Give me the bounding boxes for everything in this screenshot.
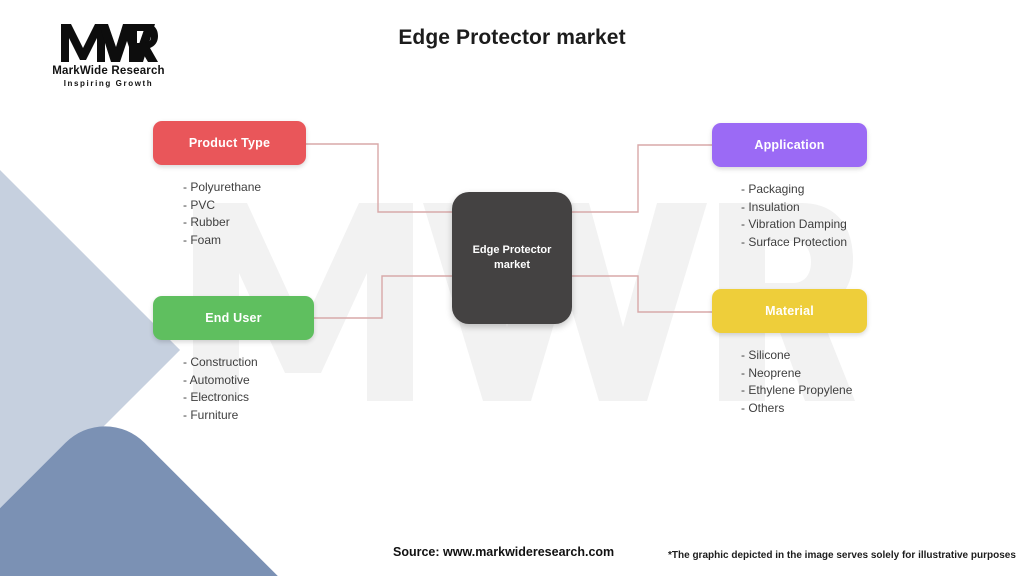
category-group-end-user[interactable]: End User - Construction - Automotive - E… — [153, 296, 314, 424]
list-item: - Silicone — [741, 347, 867, 365]
list-item: - Insulation — [741, 199, 867, 217]
list-item: - Packaging — [741, 181, 867, 199]
connector-material — [572, 276, 712, 312]
list-item: - Automotive — [183, 372, 314, 390]
category-group-application[interactable]: Application - Packaging - Insulation - V… — [712, 123, 867, 251]
center-node[interactable]: Edge Protector market — [452, 192, 572, 324]
category-items-end-user: - Construction - Automotive - Electronic… — [153, 354, 314, 424]
category-items-material: - Silicone - Neoprene - Ethylene Propyle… — [712, 347, 867, 417]
connector-end-user — [314, 276, 452, 318]
list-item: - Surface Protection — [741, 234, 867, 252]
category-box-product-type[interactable]: Product Type — [153, 121, 306, 165]
center-node-label: Edge Protector market — [465, 243, 560, 273]
category-title-end-user: End User — [205, 311, 261, 325]
list-item: - Neoprene — [741, 365, 867, 383]
category-title-product-type: Product Type — [189, 136, 270, 150]
list-item: - Vibration Damping — [741, 216, 867, 234]
list-item: - Ethylene Propylene — [741, 382, 867, 400]
category-items-application: - Packaging - Insulation - Vibration Dam… — [712, 181, 867, 251]
category-items-product-type: - Polyurethane - PVC - Rubber - Foam — [153, 179, 306, 249]
list-item: - Electronics — [183, 389, 314, 407]
category-group-material[interactable]: Material - Silicone - Neoprene - Ethylen… — [712, 289, 867, 417]
category-box-application[interactable]: Application — [712, 123, 867, 167]
category-title-application: Application — [754, 138, 824, 152]
list-item: - Construction — [183, 354, 314, 372]
connector-product-type — [306, 144, 452, 212]
list-item: - Rubber — [183, 214, 306, 232]
list-item: - Furniture — [183, 407, 314, 425]
category-box-end-user[interactable]: End User — [153, 296, 314, 340]
category-group-product-type[interactable]: Product Type - Polyurethane - PVC - Rubb… — [153, 121, 306, 249]
list-item: - Foam — [183, 232, 306, 250]
list-item: - PVC — [183, 197, 306, 215]
footer-disclaimer: *The graphic depicted in the image serve… — [668, 550, 1016, 561]
connector-application — [572, 145, 712, 212]
list-item: - Polyurethane — [183, 179, 306, 197]
footer-source: Source: www.markwideresearch.com — [393, 545, 614, 559]
category-title-material: Material — [765, 304, 814, 318]
category-box-material[interactable]: Material — [712, 289, 867, 333]
list-item: - Others — [741, 400, 867, 418]
